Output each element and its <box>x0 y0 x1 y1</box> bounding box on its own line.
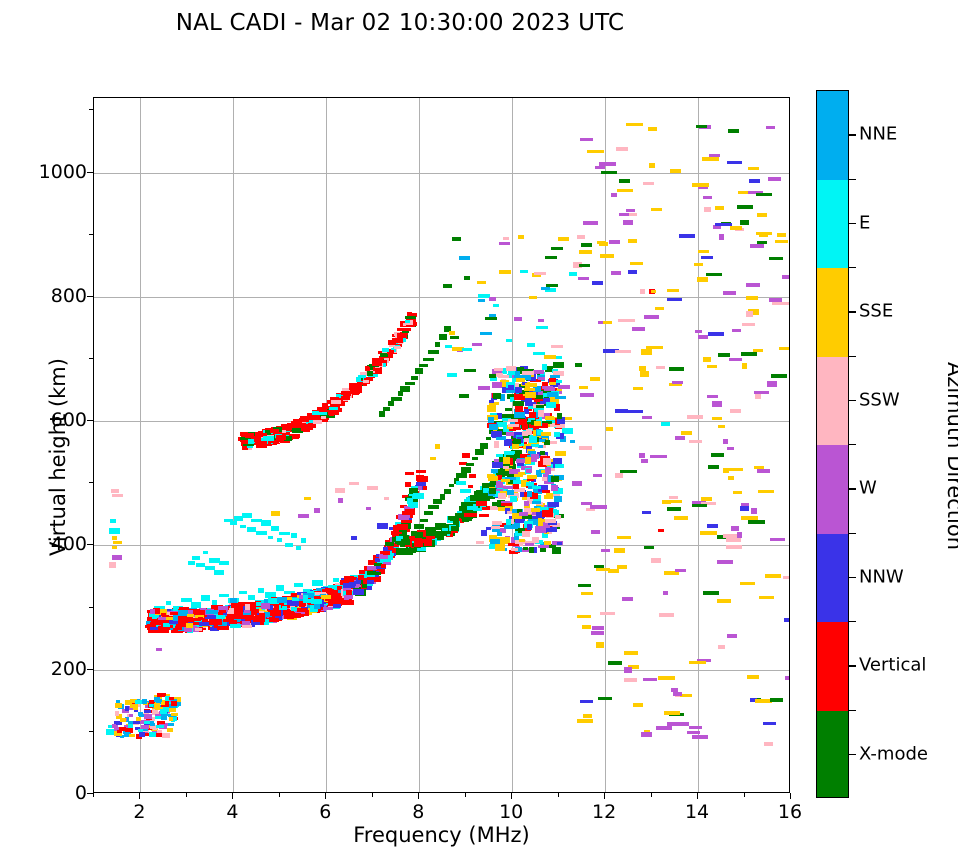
echo-point <box>206 610 218 614</box>
echo-point <box>489 424 498 430</box>
echo-point <box>547 392 558 397</box>
y-minor-tick <box>89 358 93 359</box>
echo-point <box>271 511 280 516</box>
echo-point <box>250 602 256 606</box>
echo-point <box>489 297 496 301</box>
echo-point <box>749 179 760 183</box>
echo-point <box>675 436 685 440</box>
colorbar-boundary-tick <box>849 356 856 357</box>
echo-point <box>468 485 473 488</box>
echo-point <box>461 502 473 506</box>
echo-point <box>167 728 173 732</box>
echo-point <box>217 626 229 630</box>
echo-point <box>405 509 415 515</box>
echo-point <box>726 538 741 542</box>
echo-point <box>388 340 396 345</box>
echo-point <box>156 648 162 651</box>
echo-point <box>642 416 652 419</box>
echo-point <box>169 621 178 624</box>
echo-point <box>766 126 775 129</box>
colorbar-tick <box>849 754 856 755</box>
echo-point <box>583 714 592 718</box>
echo-point <box>591 530 600 534</box>
echo-point <box>554 432 560 437</box>
echo-point <box>489 488 496 494</box>
echo-point <box>291 607 297 611</box>
echo-point <box>444 489 451 494</box>
echo-point <box>385 542 394 546</box>
echo-point <box>727 468 743 471</box>
echo-point <box>284 614 294 619</box>
echo-point <box>248 439 254 444</box>
echo-point <box>692 183 709 187</box>
colorbar-band-e <box>817 180 848 269</box>
echo-point <box>199 622 209 626</box>
echo-point <box>551 345 563 348</box>
echo-point <box>462 518 469 522</box>
echo-point <box>149 732 156 737</box>
echo-point <box>525 392 536 398</box>
y-minor-tick <box>89 482 93 483</box>
echo-point <box>580 138 593 141</box>
echo-point <box>291 533 297 538</box>
echo-point <box>162 733 170 738</box>
echo-point <box>545 256 557 259</box>
echo-point <box>144 714 152 719</box>
echo-point <box>244 610 250 613</box>
echo-point <box>555 515 561 519</box>
echo-point <box>435 444 440 449</box>
echo-point <box>557 413 562 419</box>
colorbar-tick <box>849 223 856 224</box>
colorbar-boundary-tick <box>849 267 856 268</box>
echo-point <box>527 491 532 497</box>
echo-point <box>628 270 637 274</box>
echo-point <box>351 536 357 540</box>
echo-point <box>711 453 724 457</box>
echo-point <box>115 703 122 708</box>
echo-point <box>658 676 675 680</box>
echo-point <box>531 454 539 459</box>
echo-point <box>723 439 728 444</box>
echo-point <box>767 381 777 387</box>
echo-point <box>500 394 505 401</box>
x-minor-tick <box>558 793 559 797</box>
echo-point <box>326 588 332 593</box>
echo-point <box>497 422 507 427</box>
echo-point <box>158 693 166 696</box>
echo-point <box>481 497 489 501</box>
echo-point <box>538 545 549 548</box>
echo-point <box>435 342 440 347</box>
echo-point <box>538 377 545 380</box>
echo-point <box>529 547 534 553</box>
echo-point <box>419 364 428 367</box>
echo-point <box>656 366 665 369</box>
echo-point <box>313 420 322 424</box>
echo-point <box>496 481 503 488</box>
echo-point <box>661 422 670 426</box>
echo-point <box>519 512 528 516</box>
echo-point <box>416 470 426 473</box>
echo-point <box>367 486 378 490</box>
echo-point <box>477 281 486 284</box>
echo-point <box>641 732 652 737</box>
echo-point <box>536 326 548 329</box>
echo-point <box>785 676 789 680</box>
y-tick-label: 1000 <box>39 161 87 183</box>
echo-point <box>731 526 739 531</box>
echo-point <box>583 221 598 225</box>
echo-point <box>423 358 434 361</box>
echo-point <box>754 466 764 469</box>
echo-point <box>330 397 339 400</box>
echo-point <box>619 179 630 183</box>
echo-point <box>669 496 678 499</box>
echo-point <box>314 604 320 609</box>
echo-point <box>516 378 525 382</box>
echo-point <box>258 588 264 593</box>
echo-point <box>503 486 513 489</box>
echo-point <box>548 502 559 507</box>
echo-point <box>494 368 503 371</box>
echo-point <box>622 597 633 601</box>
echo-point <box>135 700 142 704</box>
echo-point <box>449 331 455 335</box>
echo-point <box>141 725 149 729</box>
echo-point <box>481 530 487 536</box>
echo-point <box>687 731 700 734</box>
echo-point <box>648 127 657 131</box>
echo-point <box>538 410 544 417</box>
echo-point <box>464 276 470 280</box>
echo-point <box>658 529 664 532</box>
echo-point <box>384 497 389 500</box>
echo-point <box>696 125 707 128</box>
echo-point <box>695 330 702 333</box>
echo-point <box>301 538 306 543</box>
echo-point <box>677 722 689 726</box>
echo-point <box>332 404 340 407</box>
echo-point <box>553 362 564 368</box>
echo-point <box>616 147 628 151</box>
echo-point <box>698 250 709 253</box>
echo-point <box>644 315 659 319</box>
echo-point <box>529 296 537 299</box>
echo-point <box>508 424 519 427</box>
echo-point <box>664 711 680 715</box>
x-tick <box>418 793 419 799</box>
echo-point <box>662 500 671 504</box>
y-tick-label: 800 <box>51 285 87 307</box>
echo-point <box>510 496 517 502</box>
echo-point <box>733 491 742 494</box>
echo-point <box>461 467 471 473</box>
echo-point <box>498 493 506 499</box>
echo-point <box>452 237 461 241</box>
colorbar-band-vertical <box>817 622 848 711</box>
x-minor-tick <box>372 793 373 797</box>
y-tick <box>87 420 93 421</box>
x-tick <box>604 793 605 799</box>
echo-point <box>577 615 591 618</box>
echo-point <box>112 536 117 540</box>
echo-point <box>489 374 496 378</box>
echo-point <box>201 595 210 601</box>
echo-point <box>718 645 725 649</box>
echo-point <box>196 563 205 567</box>
x-minor-tick <box>651 793 652 797</box>
echo-point <box>188 561 195 565</box>
echo-point <box>532 486 541 489</box>
echo-point <box>253 437 261 441</box>
echo-point <box>282 606 287 610</box>
echo-point <box>298 514 309 518</box>
echo-point <box>651 208 662 211</box>
echo-point <box>580 393 594 397</box>
echo-point <box>641 349 652 355</box>
echo-point <box>609 240 620 244</box>
echo-point <box>496 373 503 377</box>
echo-point <box>643 182 654 185</box>
echo-point <box>523 547 528 550</box>
echo-point <box>538 439 545 442</box>
echo-point <box>496 454 503 457</box>
echo-point <box>579 250 592 254</box>
echo-point <box>459 394 469 398</box>
echo-point <box>608 661 622 665</box>
echo-point <box>358 375 366 378</box>
echo-point <box>139 732 145 737</box>
echo-point <box>478 294 490 298</box>
colorbar-band-nnw <box>817 534 848 623</box>
echo-point <box>596 642 604 648</box>
echo-point <box>277 597 287 603</box>
echo-point <box>421 539 430 543</box>
echo-point <box>748 520 765 524</box>
echo-point <box>203 551 208 554</box>
y-tick <box>87 296 93 297</box>
echo-point <box>587 150 604 153</box>
echo-point <box>405 382 415 385</box>
echo-point <box>727 447 734 450</box>
echo-point <box>514 412 525 418</box>
echo-point <box>650 455 667 458</box>
echo-point <box>219 561 229 565</box>
echo-point <box>730 226 742 230</box>
echo-point <box>491 526 500 529</box>
echo-point <box>219 610 226 613</box>
echo-point <box>555 451 566 456</box>
echo-point <box>489 400 494 403</box>
echo-point <box>732 329 741 332</box>
echo-point <box>651 290 656 293</box>
echo-point <box>742 363 747 369</box>
echo-point <box>672 381 683 384</box>
colorbar-boundary-tick <box>849 710 856 711</box>
echo-point <box>741 352 757 356</box>
echo-point <box>713 225 721 229</box>
echo-point <box>529 412 536 418</box>
echo-point <box>302 417 309 422</box>
echo-point <box>505 408 512 411</box>
echo-point <box>742 323 755 326</box>
echo-point <box>367 371 373 376</box>
echo-point <box>558 237 569 241</box>
echo-point <box>193 610 205 615</box>
x-tick-label: 16 <box>778 801 802 823</box>
echo-point <box>579 264 590 267</box>
echo-point <box>304 497 311 500</box>
echo-point <box>632 327 645 331</box>
echo-point <box>504 525 515 529</box>
echo-point <box>487 405 496 412</box>
echo-point <box>727 634 737 638</box>
echo-point <box>229 620 237 624</box>
echo-point <box>578 584 591 587</box>
echo-point <box>751 508 757 514</box>
echo-point <box>147 617 152 621</box>
echo-point <box>590 505 607 509</box>
echo-point <box>531 444 539 447</box>
echo-point <box>488 476 498 481</box>
echo-point <box>451 526 459 531</box>
echo-point <box>186 623 193 628</box>
echo-point <box>358 575 364 578</box>
echo-point <box>354 389 362 393</box>
echo-point <box>515 387 522 393</box>
echo-point <box>600 612 615 615</box>
echo-point <box>506 432 514 436</box>
colorbar-band-w <box>817 445 848 534</box>
echo-point <box>611 271 621 275</box>
echo-point <box>534 421 541 426</box>
echo-point <box>582 625 591 629</box>
echo-point <box>276 585 284 591</box>
echo-point <box>485 317 497 320</box>
echo-point <box>655 307 664 310</box>
echo-point <box>649 163 655 168</box>
echo-point <box>738 191 748 194</box>
echo-point <box>550 424 555 427</box>
echo-point <box>669 500 682 503</box>
echo-point <box>641 459 648 463</box>
echo-point <box>639 453 645 458</box>
echo-point <box>398 391 403 396</box>
echo-point <box>229 608 234 614</box>
echo-point <box>618 319 635 322</box>
echo-point <box>480 332 492 335</box>
echo-point <box>184 627 192 632</box>
echo-point <box>142 699 147 704</box>
echo-point <box>285 543 293 547</box>
echo-point <box>506 390 515 393</box>
echo-point <box>756 193 772 196</box>
echo-point <box>777 233 786 237</box>
echo-point <box>541 287 550 290</box>
echo-point <box>708 465 719 469</box>
echo-point <box>611 193 617 197</box>
x-tick <box>325 793 326 799</box>
echo-point <box>527 524 532 530</box>
echo-point <box>450 336 459 339</box>
echo-point <box>633 387 643 390</box>
echo-point <box>321 595 331 599</box>
echo-point <box>570 440 575 443</box>
echo-point <box>535 526 546 533</box>
echo-point <box>551 485 558 491</box>
echo-point <box>763 722 776 725</box>
echo-point <box>405 482 411 487</box>
echo-point <box>526 429 532 435</box>
echo-point <box>511 548 518 551</box>
echo-point <box>757 213 767 217</box>
echo-point <box>479 514 489 517</box>
x-tick-label: 12 <box>592 801 616 823</box>
echo-point <box>651 558 661 563</box>
echo-point <box>210 619 222 625</box>
echo-point <box>187 614 194 617</box>
echo-point <box>362 584 367 588</box>
echo-point <box>469 474 476 478</box>
echo-point <box>551 247 563 250</box>
echo-point <box>601 549 610 552</box>
echo-point <box>478 386 490 390</box>
echo-point <box>527 475 537 479</box>
echo-point <box>277 538 282 542</box>
echo-point <box>598 697 612 700</box>
echo-point <box>579 386 588 389</box>
y-tick <box>87 544 93 545</box>
echo-point <box>544 355 556 359</box>
echo-point <box>730 409 741 413</box>
echo-point <box>505 452 514 455</box>
echo-point <box>581 592 593 595</box>
echo-point <box>292 598 299 601</box>
echo-point <box>698 335 708 339</box>
echo-point <box>783 576 789 579</box>
echo-point <box>533 370 544 374</box>
echo-point <box>439 334 447 340</box>
echo-point <box>770 698 783 702</box>
echo-point <box>514 317 522 321</box>
echo-point <box>388 401 394 406</box>
echo-point <box>580 700 593 703</box>
echo-point <box>464 369 476 372</box>
echo-point <box>519 539 525 542</box>
echo-point <box>671 688 678 692</box>
echo-point <box>692 735 708 739</box>
echo-point <box>764 742 773 746</box>
echo-point <box>577 235 585 239</box>
x-tick <box>790 793 791 799</box>
echo-point <box>717 599 731 603</box>
echo-point <box>728 129 739 133</box>
echo-point <box>383 407 390 411</box>
echo-point <box>335 488 345 493</box>
echo-point <box>577 719 593 723</box>
x-minor-tick <box>744 793 745 797</box>
echo-point <box>669 367 684 371</box>
echo-point <box>619 213 629 216</box>
echo-point <box>401 539 410 545</box>
echo-point <box>513 401 524 406</box>
echo-point <box>740 506 749 511</box>
colorbar-boundary-tick <box>849 179 856 180</box>
echo-point <box>770 538 785 541</box>
y-axis-label: Virtual height (km) <box>46 307 70 607</box>
echo-point <box>667 507 681 511</box>
